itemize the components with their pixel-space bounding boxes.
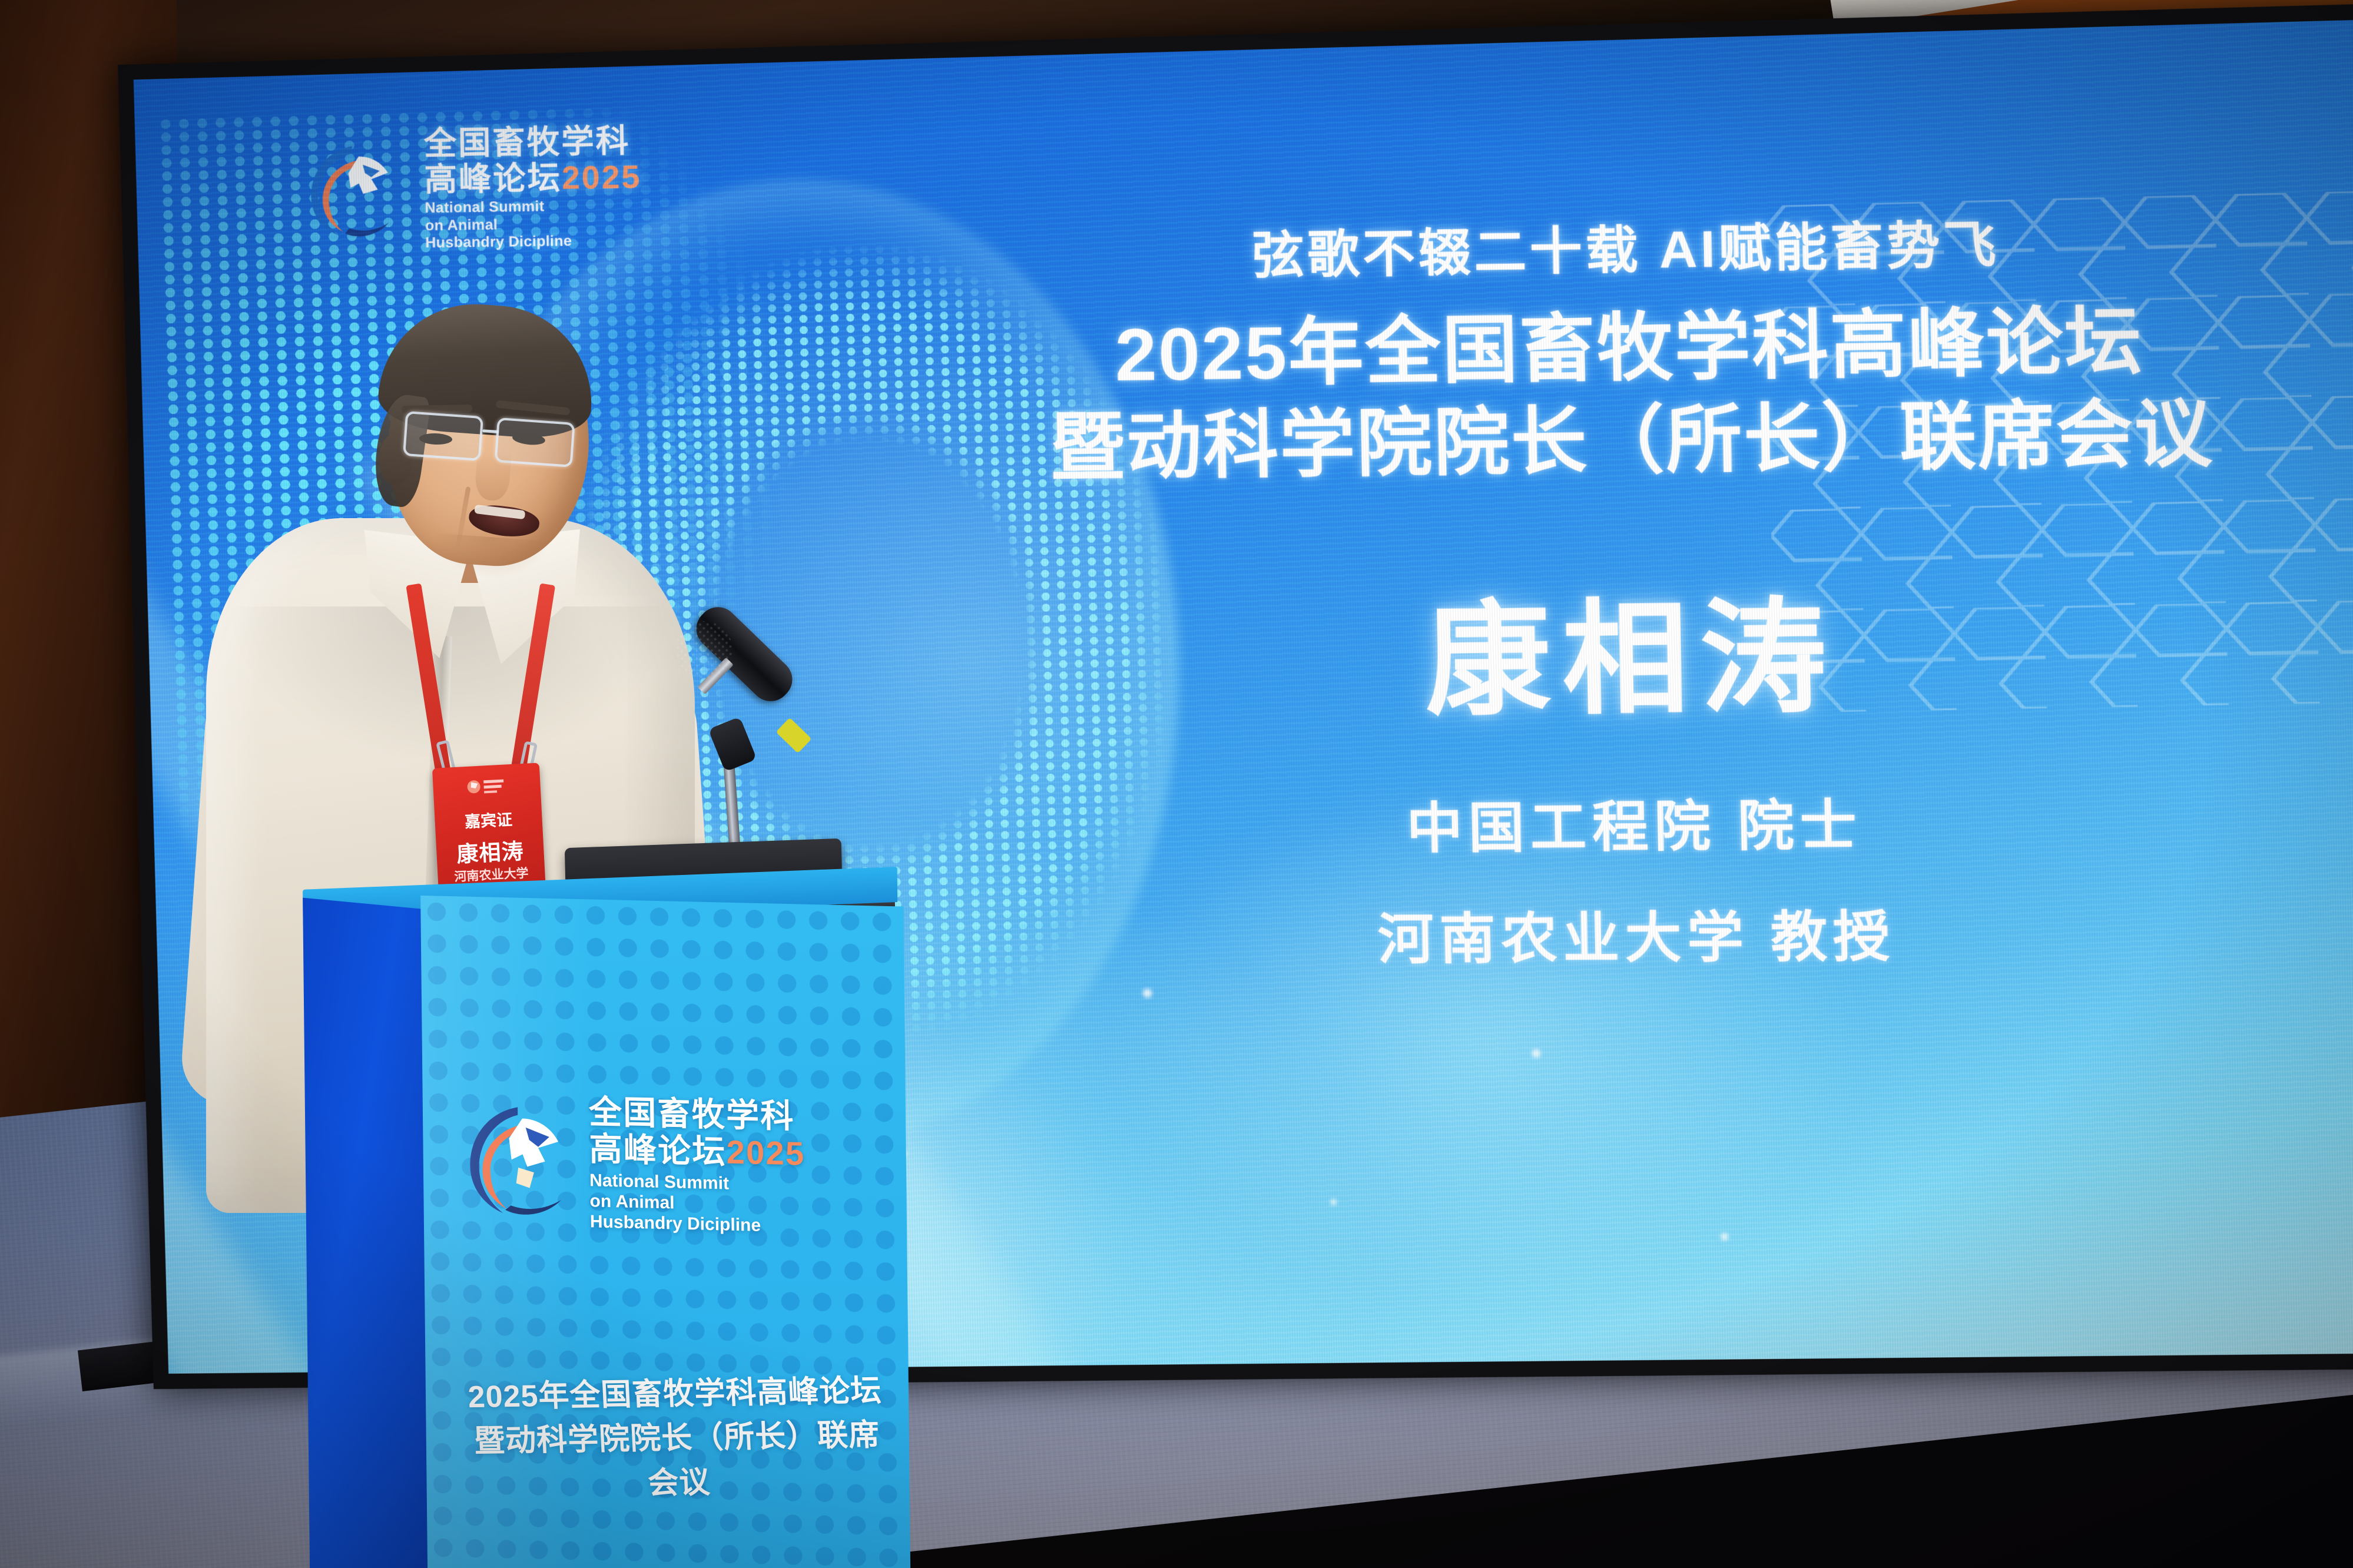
podium-logo-cn-line1: 全国畜牧学科 bbox=[589, 1093, 805, 1135]
speaker-chin-shadow bbox=[429, 533, 549, 582]
podium-logo-cn2-text: 高峰论坛 bbox=[589, 1130, 727, 1170]
podium-logo-text: 全国畜牧学科 高峰论坛2025 National Summit on Anima… bbox=[589, 1093, 806, 1237]
badge-type-label: 嘉宾证 bbox=[435, 805, 543, 833]
podium-logo-cn-line2: 高峰论坛2025 bbox=[589, 1131, 805, 1172]
podium-event-logo: 全国畜牧学科 高峰论坛2025 National Summit on Anima… bbox=[464, 1091, 806, 1238]
speaker-shoulder-shadow bbox=[218, 606, 683, 771]
glasses-bridge bbox=[482, 429, 499, 433]
podium-logo-en: National Summit on Animal Husbandry Dici… bbox=[589, 1171, 806, 1238]
podium-logo-en-line3: Husbandry Dicipline bbox=[590, 1212, 806, 1237]
podium-caption: 2025年全国畜牧学科高峰论坛 暨动科学院院长（所长）联席会议 bbox=[456, 1369, 898, 1509]
speaker-podium: 全国畜牧学科 高峰论坛2025 National Summit on Anima… bbox=[303, 873, 1052, 1568]
podium-logo-year: 2025 bbox=[726, 1133, 805, 1172]
summit-logo-icon bbox=[464, 1101, 577, 1221]
glasses-lens-left bbox=[403, 411, 483, 461]
podium-caption-line1: 2025年全国畜牧学科高峰论坛 bbox=[456, 1369, 894, 1420]
badge-logo-icon bbox=[466, 775, 508, 797]
screenshot-root: 全国畜牧学科 高峰论坛2025 National Summit on Anima… bbox=[0, 0, 2353, 1568]
podium-caption-line2: 暨动科学院院长（所长）联席会议 bbox=[458, 1413, 898, 1509]
podium-side-panel bbox=[303, 898, 433, 1568]
podium-front-panel: 全国畜牧学科 高峰论坛2025 National Summit on Anima… bbox=[420, 896, 910, 1568]
